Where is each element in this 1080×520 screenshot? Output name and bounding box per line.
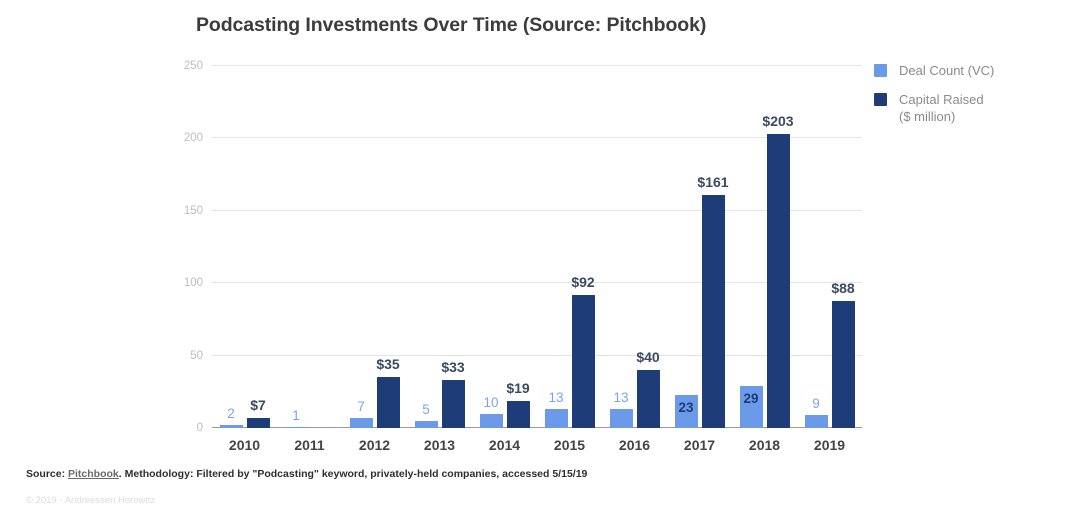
y-axis-tick-label: 100	[184, 277, 203, 289]
source-rest: . Methodology: Filtered by "Podcasting" …	[119, 468, 588, 480]
chart-title: Podcasting Investments Over Time (Source…	[196, 14, 706, 37]
bar-label-deal-count: 2	[227, 406, 235, 421]
bar-label-deal-count: 13	[613, 390, 628, 405]
bar-label-deal-count: 1	[292, 408, 300, 423]
x-axis-tick-label: 2012	[359, 437, 390, 453]
bar-capital-raised[interactable]	[442, 380, 465, 428]
y-axis-tick-label: 250	[184, 60, 203, 72]
y-axis-tick-label: 0	[197, 422, 203, 434]
bar-capital-raised[interactable]	[767, 134, 790, 428]
legend-swatch-capital-raised	[874, 93, 887, 106]
bar-group: 10$192014	[472, 66, 537, 428]
copyright-notice: © 2019 - Andreessen Horowitz	[26, 495, 155, 506]
bar-deal-count[interactable]	[350, 418, 373, 428]
bar-deal-count[interactable]	[805, 415, 828, 428]
x-axis-tick-label: 2018	[749, 437, 780, 453]
bar-capital-raised[interactable]	[377, 377, 400, 428]
y-axis-tick-label: 200	[184, 132, 203, 144]
x-axis-tick-label: 2014	[489, 437, 520, 453]
legend-item-deal-count[interactable]: Deal Count (VC)	[874, 62, 1074, 79]
bar-capital-raised[interactable]	[832, 301, 855, 428]
x-axis-tick-label: 2011	[294, 437, 324, 453]
x-axis-tick-label: 2015	[554, 437, 585, 453]
bar-label-capital-raised: $35	[376, 356, 399, 372]
bar-deal-count[interactable]	[285, 427, 308, 428]
bar-label-capital-raised: $92	[571, 274, 594, 290]
x-axis-tick-label: 2019	[814, 437, 845, 453]
bar-deal-count[interactable]	[480, 414, 503, 428]
legend-label-deal-count: Deal Count (VC)	[899, 62, 994, 79]
bar-group: 13$402016	[602, 66, 667, 428]
bar-label-deal-count: 5	[422, 402, 430, 417]
legend-item-capital-raised[interactable]: Capital Raised ($ million)	[874, 91, 1074, 125]
bar-deal-count[interactable]	[220, 425, 243, 428]
bar-capital-raised[interactable]	[702, 195, 725, 428]
bar-label-deal-count: 29	[743, 391, 758, 406]
bar-label-capital-raised: $40	[636, 349, 659, 365]
bar-label-deal-count: 7	[357, 399, 365, 414]
source-prefix: Source:	[26, 468, 68, 480]
bar-label-deal-count: 9	[812, 396, 820, 411]
bar-capital-raised[interactable]	[507, 401, 530, 429]
bar-deal-count[interactable]	[545, 409, 568, 428]
legend-swatch-deal-count	[874, 64, 887, 77]
x-axis-tick-label: 2016	[619, 437, 650, 453]
bar-label-deal-count: 10	[483, 395, 498, 410]
bar-group: 23$1612017	[667, 66, 732, 428]
y-axis-tick-label: 50	[190, 350, 203, 362]
source-link[interactable]: Pitchbook	[68, 468, 119, 480]
bar-label-capital-raised: $161	[697, 174, 728, 190]
bar-deal-count[interactable]	[415, 421, 438, 428]
bar-group: 5$332013	[407, 66, 472, 428]
bar-group: 2$72010	[212, 66, 277, 428]
legend-label-capital-raised: Capital Raised ($ million)	[899, 91, 984, 125]
source-note: Source: Pitchbook. Methodology: Filtered…	[26, 468, 587, 480]
bar-label-deal-count: 23	[678, 400, 693, 415]
bar-label-capital-raised: $203	[762, 113, 793, 129]
bar-group: 29$2032018	[732, 66, 797, 428]
bar-label-deal-count: 13	[548, 390, 563, 405]
bar-group: 7$352012	[342, 66, 407, 428]
x-axis-tick-label: 2017	[684, 437, 715, 453]
x-axis-tick-label: 2010	[229, 437, 260, 453]
bar-group: 13$922015	[537, 66, 602, 428]
chart-legend: Deal Count (VC) Capital Raised ($ millio…	[874, 62, 1074, 137]
bar-label-capital-raised: $88	[831, 280, 854, 296]
bar-capital-raised[interactable]	[637, 370, 660, 428]
bar-group: 9$882019	[797, 66, 862, 428]
bar-group: 12011	[277, 66, 342, 428]
bar-label-capital-raised: $33	[441, 359, 464, 375]
bar-label-capital-raised: $19	[506, 380, 529, 396]
x-axis-tick-label: 2013	[424, 437, 455, 453]
bar-label-capital-raised: $7	[250, 397, 266, 413]
bar-deal-count[interactable]	[610, 409, 633, 428]
y-axis-tick-label: 150	[184, 205, 203, 217]
bar-capital-raised[interactable]	[247, 418, 270, 428]
bar-capital-raised[interactable]	[572, 295, 595, 428]
plot-area: 0501001502002502$72010120117$3520125$332…	[212, 66, 862, 428]
